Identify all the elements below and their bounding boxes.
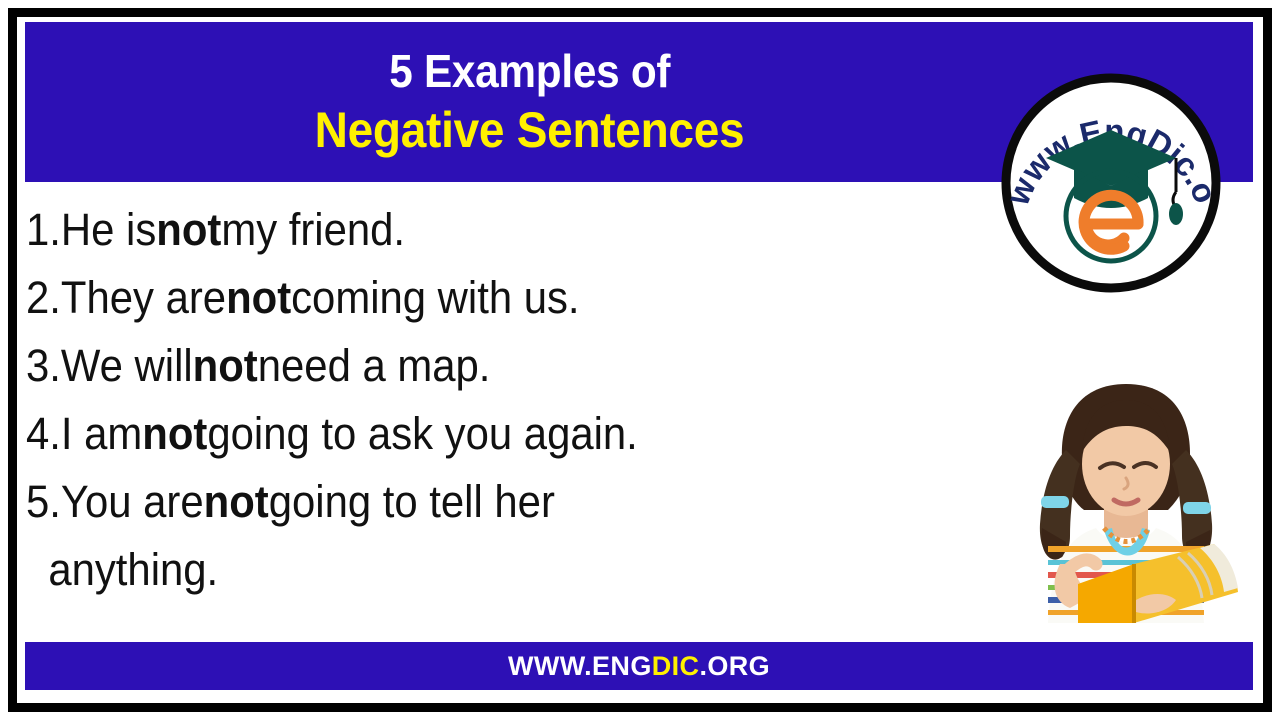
footer-website-url[interactable]: WWW.ENGDIC.ORG xyxy=(508,651,770,682)
footer-url-highlight: DIC xyxy=(652,651,700,681)
engdic-logo[interactable]: www.EngDic.org xyxy=(1000,72,1222,294)
footer-band: WWW.ENGDIC.ORG xyxy=(25,642,1253,690)
footer-url-part-2: .ORG xyxy=(699,651,770,681)
list-item: 2.They are not coming with us. xyxy=(26,264,919,332)
list-item-text-after: my friend. xyxy=(221,196,405,264)
list-item-text-after: coming with us. xyxy=(291,264,579,332)
list-item-text-before: I am xyxy=(61,400,142,468)
list-item-text-before: You are xyxy=(61,468,204,536)
list-item-bold-word: not xyxy=(204,468,269,536)
girl-reading-illustration xyxy=(1000,378,1252,623)
list-item-text-after: going to ask you again. xyxy=(207,400,637,468)
footer-url-part-1: WWW.ENG xyxy=(508,651,652,681)
poster: 5 Examples of Negative Sentences www.Eng… xyxy=(0,0,1280,720)
title-line-secondary: Negative Sentences xyxy=(315,101,745,160)
list-item-text-before: He is xyxy=(61,196,156,264)
title-line-primary: 5 Examples of xyxy=(389,44,670,98)
list-item: 3.We will not need a map. xyxy=(26,332,919,400)
list-item: 1.He is not my friend. xyxy=(26,196,919,264)
list-item-text-before: We will xyxy=(61,332,193,400)
list-item-bold-word: not xyxy=(226,264,291,332)
list-item-number: 2. xyxy=(26,264,61,332)
list-item-text-after: going to tell her xyxy=(269,468,555,536)
list-item-number: 5. xyxy=(26,468,61,536)
list-item-number: 3. xyxy=(26,332,61,400)
list-item-number: 4. xyxy=(26,400,61,468)
list-item-text-after: need a map. xyxy=(258,332,491,400)
page-title: 5 Examples of Negative Sentences xyxy=(25,22,1035,182)
list-item-bold-word: not xyxy=(142,400,207,468)
sentence-list: 1.He is not my friend. 2.They are not co… xyxy=(26,196,986,604)
list-item-number: 1. xyxy=(26,196,61,264)
list-item-bold-word: not xyxy=(193,332,258,400)
list-item: 4.I am not going to ask you again. xyxy=(26,400,919,468)
list-item-wrapped-text: anything. xyxy=(26,536,919,604)
list-item: 5.You are not going to tell her xyxy=(26,468,919,536)
list-item-text-before: They are xyxy=(61,264,226,332)
list-item-bold-word: not xyxy=(156,196,221,264)
